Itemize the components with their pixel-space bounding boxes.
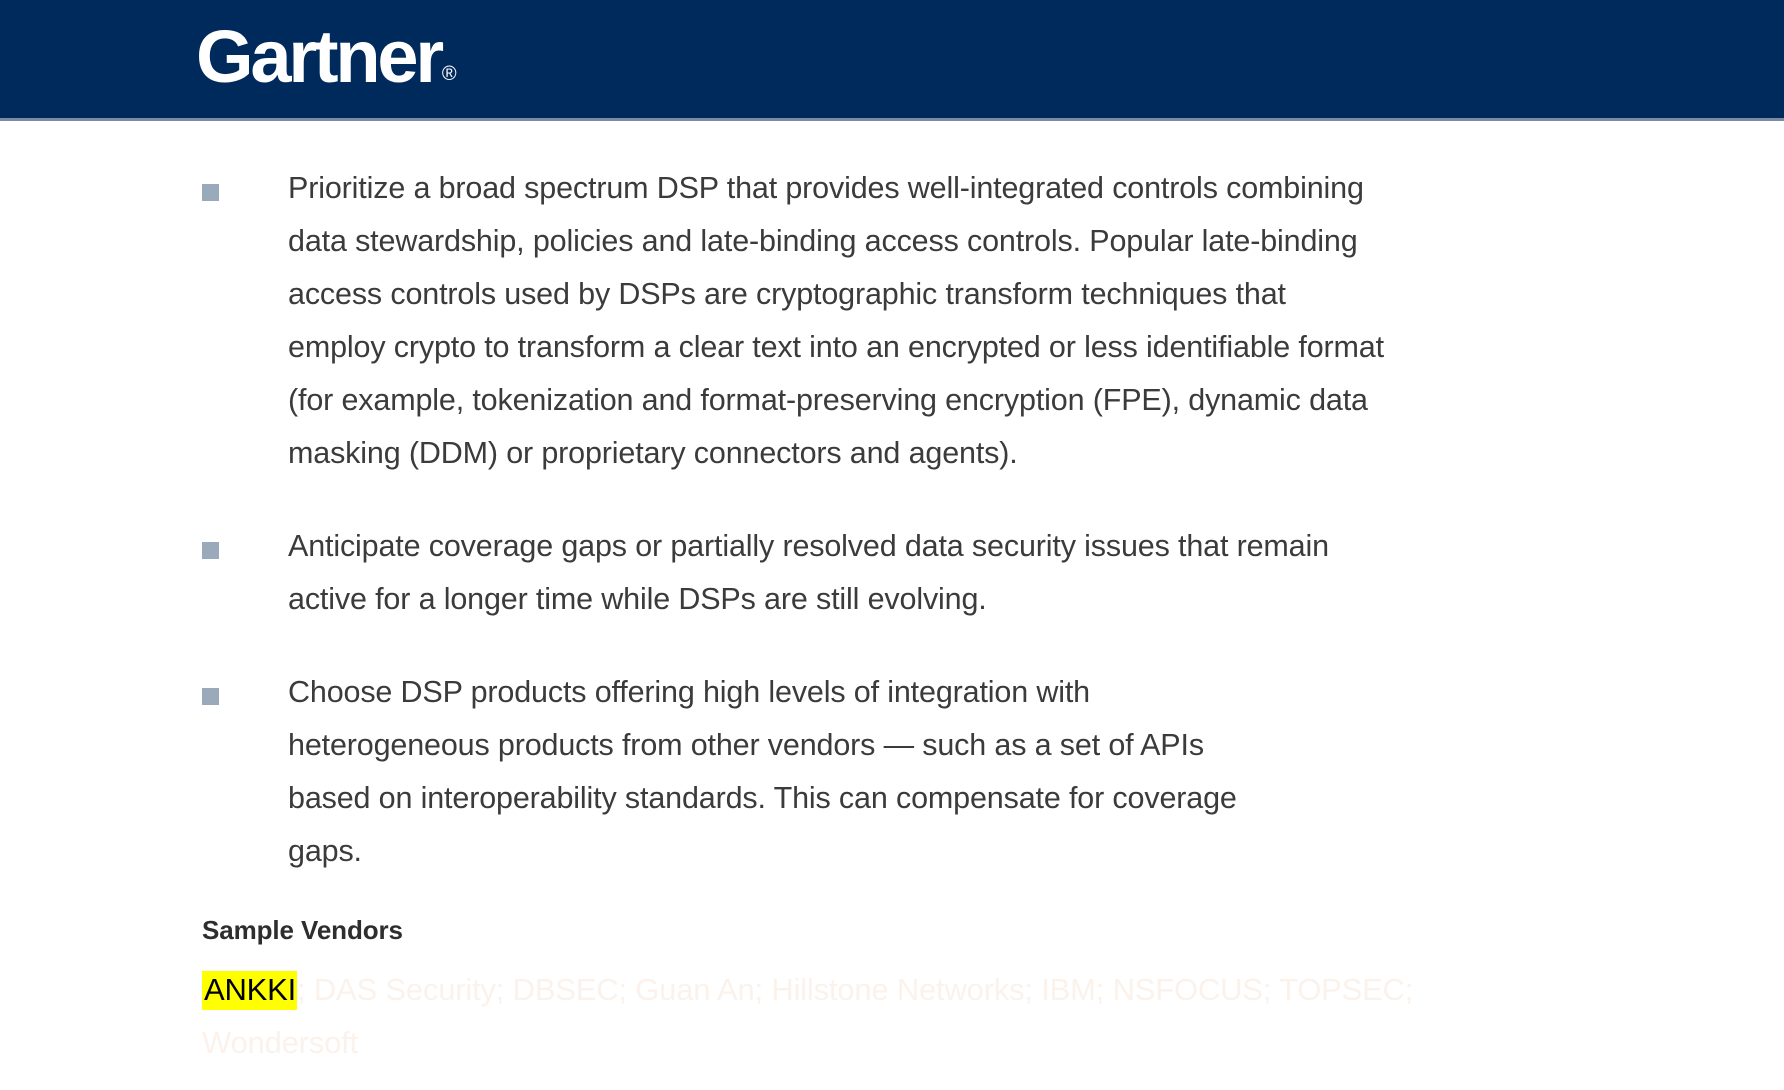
bullet-text: Prioritize a broad spectrum DSP that pro… <box>288 162 1384 480</box>
registered-trademark-icon: ® <box>442 63 457 85</box>
sample-vendors-heading: Sample Vendors <box>202 913 1762 947</box>
square-bullet-icon <box>202 184 219 201</box>
list-item: Choose DSP products offering high levels… <box>0 666 1784 878</box>
list-item: Anticipate coverage gaps or partially re… <box>0 520 1784 626</box>
bullet-text: Anticipate coverage gaps or partially re… <box>288 520 1374 626</box>
list-item: Prioritize a broad spectrum DSP that pro… <box>0 162 1784 480</box>
gartner-logo: Gartner® <box>196 14 456 119</box>
highlighted-vendor-ankki: ANKKI <box>202 971 297 1010</box>
slide-body: Prioritize a broad spectrum DSP that pro… <box>0 118 1784 1090</box>
sample-vendors-section: Sample Vendors ANKKI; DAS Security; DBSE… <box>202 913 1762 1069</box>
sample-vendors-list: ANKKI; DAS Security; DBSEC; Guan An; Hil… <box>202 963 1542 1069</box>
gartner-logo-text: Gartner <box>196 15 441 98</box>
vendor-names-rest: DAS Security; DBSEC; Guan An; Hillstone … <box>202 972 1413 1060</box>
slide-canvas: Gartner® Prioritize a broad spectrum DSP… <box>0 0 1784 1090</box>
square-bullet-icon <box>202 688 219 705</box>
bullet-text: Choose DSP products offering high levels… <box>288 666 1264 878</box>
square-bullet-icon <box>202 542 219 559</box>
bullet-list: Prioritize a broad spectrum DSP that pro… <box>0 162 1784 918</box>
